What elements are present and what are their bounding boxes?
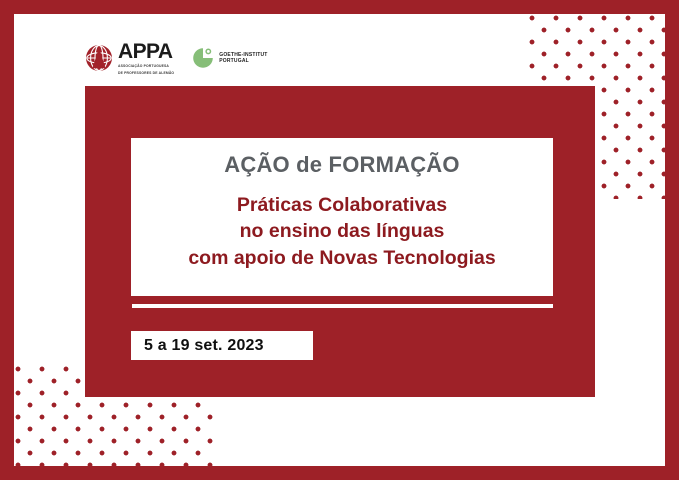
subtitle-line-1: Práticas Colaborativas [188, 192, 495, 218]
red-content-panel: AÇÃO de FORMAÇÃO Práticas Colaborativas … [85, 86, 595, 397]
page-title: AÇÃO de FORMAÇÃO [224, 152, 459, 178]
goethe-wordmark-block: GOETHE-INSTITUT PORTUGAL [219, 52, 267, 65]
appa-wordmark: APPA [118, 41, 174, 62]
appa-globe-icon [85, 44, 113, 72]
poster-canvas: APPA ASSOCIAÇÃO PORTUGUESA DE PROFESSORE… [0, 0, 679, 480]
goethe-circle-icon [192, 47, 214, 69]
appa-tagline-line1: ASSOCIAÇÃO PORTUGUESA [118, 64, 174, 69]
appa-tagline-line2: DE PROFESSORES DE ALEMÃO [118, 71, 174, 76]
appa-wordmark-block: APPA ASSOCIAÇÃO PORTUGUESA DE PROFESSORE… [118, 41, 174, 75]
date-badge: 5 a 19 set. 2023 [131, 331, 313, 360]
subtitle-line-2: no ensino das línguas [188, 218, 495, 244]
logo-bar: APPA ASSOCIAÇÃO PORTUGUESA DE PROFESSORE… [85, 36, 268, 80]
appa-logo: APPA ASSOCIAÇÃO PORTUGUESA DE PROFESSORE… [85, 41, 174, 75]
goethe-institut-logo: GOETHE-INSTITUT PORTUGAL [192, 47, 267, 69]
title-card: AÇÃO de FORMAÇÃO Práticas Colaborativas … [131, 138, 553, 296]
subtitle-line-3: com apoio de Novas Tecnologias [188, 245, 495, 271]
course-subtitle: Práticas Colaborativas no ensino das lín… [188, 192, 495, 271]
goethe-wordmark-line2: PORTUGAL [219, 58, 267, 64]
date-badge-label: 5 a 19 set. 2023 [144, 337, 264, 355]
divider-rule [132, 304, 553, 308]
